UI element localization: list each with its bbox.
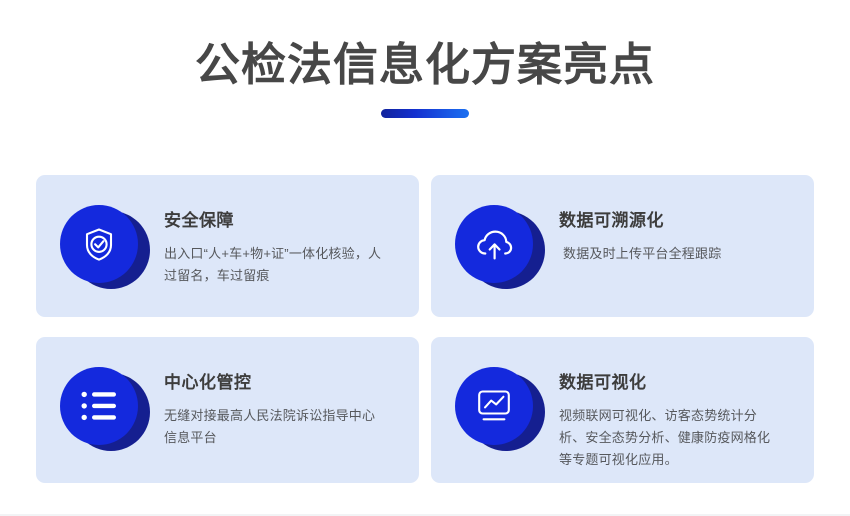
card-description: 视频联网可视化、访客态势统计分析、安全态势分析、健康防疫网格化等专题可视化应用。 <box>559 405 773 471</box>
card-text-block: 中心化管控 无缝对接最高人民法院诉讼指导中心信息平台 <box>148 367 386 449</box>
card-text-block: 安全保障 出入口“人+车+物+证”一体化核验，人过留名，车过留痕 <box>148 205 386 287</box>
highlight-card-security[interactable]: 安全保障 出入口“人+车+物+证”一体化核验，人过留名，车过留痕 <box>36 175 419 317</box>
icon-container <box>52 367 148 451</box>
card-title: 中心化管控 <box>164 373 386 393</box>
highlight-card-visualization[interactable]: 数据可视化 视频联网可视化、访客态势统计分析、安全态势分析、健康防疫网格化等专题… <box>431 337 814 483</box>
icon-circle <box>60 367 138 445</box>
shield-check-icon <box>79 224 119 264</box>
cloud-upload-icon <box>473 223 515 265</box>
page-title: 公检法信息化方案亮点 <box>0 36 850 94</box>
list-bullet-icon <box>79 389 119 423</box>
highlights-page: 公检法信息化方案亮点 安全保障 出入口“ <box>0 0 850 516</box>
highlight-card-centralized-control[interactable]: 中心化管控 无缝对接最高人民法院诉讼指导中心信息平台 <box>36 337 419 483</box>
icon-container <box>447 367 543 451</box>
card-title: 安全保障 <box>164 211 386 231</box>
icon-container <box>447 205 543 289</box>
highlight-cards-grid: 安全保障 出入口“人+车+物+证”一体化核验，人过留名，车过留痕 <box>36 175 814 483</box>
icon-container <box>52 205 148 289</box>
chart-monitor-icon <box>474 387 514 425</box>
card-description: 无缝对接最高人民法院诉讼指导中心信息平台 <box>164 405 386 449</box>
title-underline-bar <box>381 109 469 118</box>
icon-circle <box>60 205 138 283</box>
card-description: 出入口“人+车+物+证”一体化核验，人过留名，车过留痕 <box>164 243 386 287</box>
card-title: 数据可视化 <box>559 373 773 393</box>
card-description: 数据及时上传平台全程跟踪 <box>559 243 721 265</box>
icon-circle <box>455 367 533 445</box>
highlight-card-traceability[interactable]: 数据可溯源化 数据及时上传平台全程跟踪 <box>431 175 814 317</box>
card-title: 数据可溯源化 <box>559 211 721 231</box>
card-text-block: 数据可溯源化 数据及时上传平台全程跟踪 <box>543 205 721 265</box>
page-header: 公检法信息化方案亮点 <box>0 0 850 118</box>
card-text-block: 数据可视化 视频联网可视化、访客态势统计分析、安全态势分析、健康防疫网格化等专题… <box>543 367 773 471</box>
icon-circle <box>455 205 533 283</box>
